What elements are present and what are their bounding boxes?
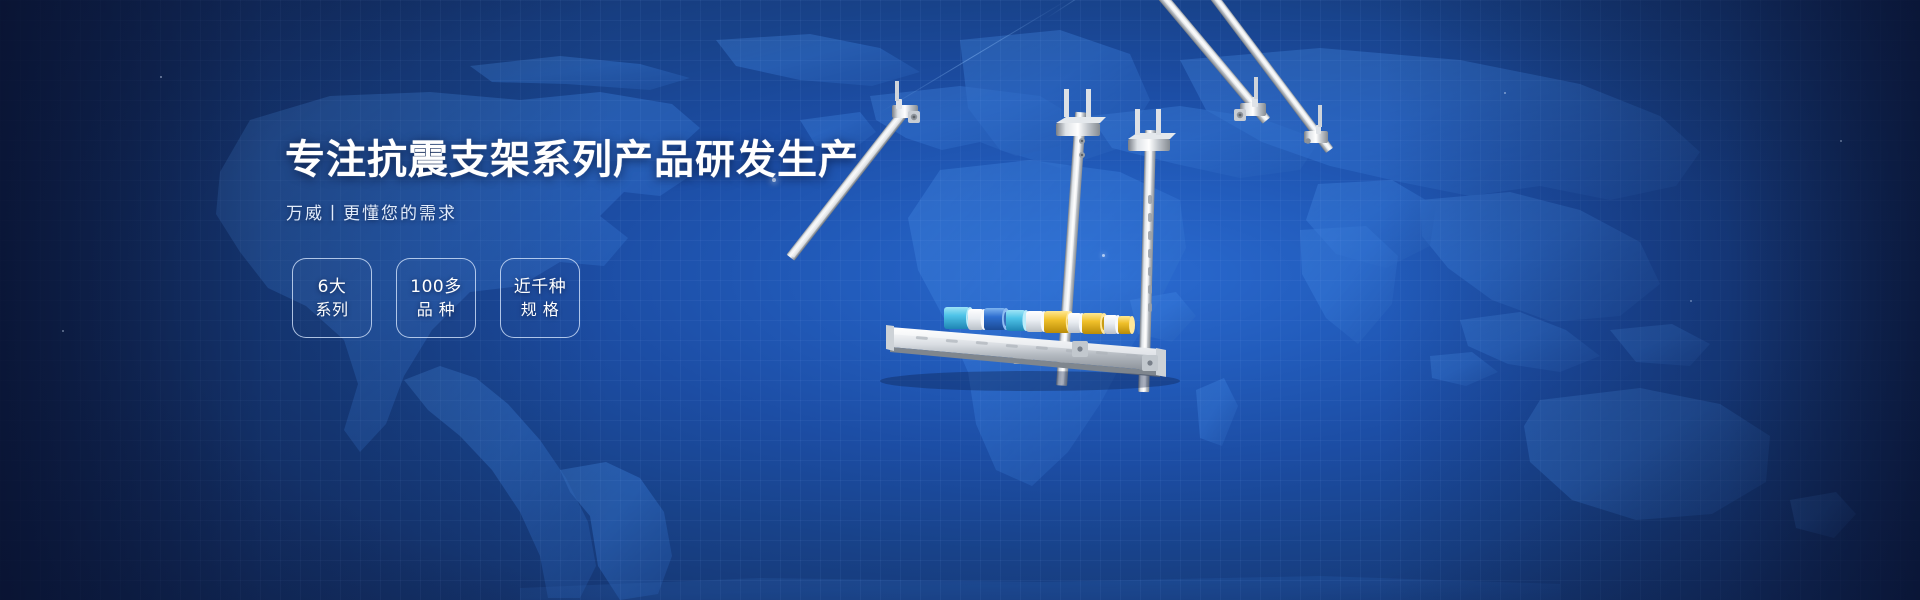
badge-specifications[interactable]: 近千种 规 格 bbox=[500, 258, 580, 338]
page-title: 专注抗震支架系列产品研发生产 bbox=[285, 140, 845, 180]
sparkle-dot bbox=[62, 330, 64, 332]
product-image bbox=[860, 55, 1330, 415]
sparkle-dot bbox=[160, 76, 162, 78]
badge-line-1: 6大 bbox=[318, 276, 347, 299]
sparkle-dot bbox=[1690, 300, 1692, 302]
badge-line-2: 品 种 bbox=[417, 299, 456, 321]
badge-line-2: 规 格 bbox=[521, 299, 560, 321]
banner-copy: 专注抗震支架系列产品研发生产 万威丨更懂您的需求 bbox=[285, 140, 845, 223]
hero-banner: 专注抗震支架系列产品研发生产 万威丨更懂您的需求 6大 系列 100多 品 种 … bbox=[0, 0, 1920, 600]
badge-line-2: 系列 bbox=[315, 299, 348, 321]
sparkle-dot bbox=[1840, 140, 1842, 142]
badge-varieties[interactable]: 100多 品 种 bbox=[396, 258, 476, 338]
badge-line-1: 近千种 bbox=[514, 276, 567, 299]
pipe-row bbox=[944, 307, 1135, 334]
sparkle-dot bbox=[1504, 92, 1506, 94]
badge-line-1: 100多 bbox=[410, 276, 461, 299]
badge-series[interactable]: 6大 系列 bbox=[292, 258, 372, 338]
feature-badges: 6大 系列 100多 品 种 近千种 规 格 bbox=[292, 258, 580, 338]
banner-subtitle: 万威丨更懂您的需求 bbox=[286, 206, 845, 223]
